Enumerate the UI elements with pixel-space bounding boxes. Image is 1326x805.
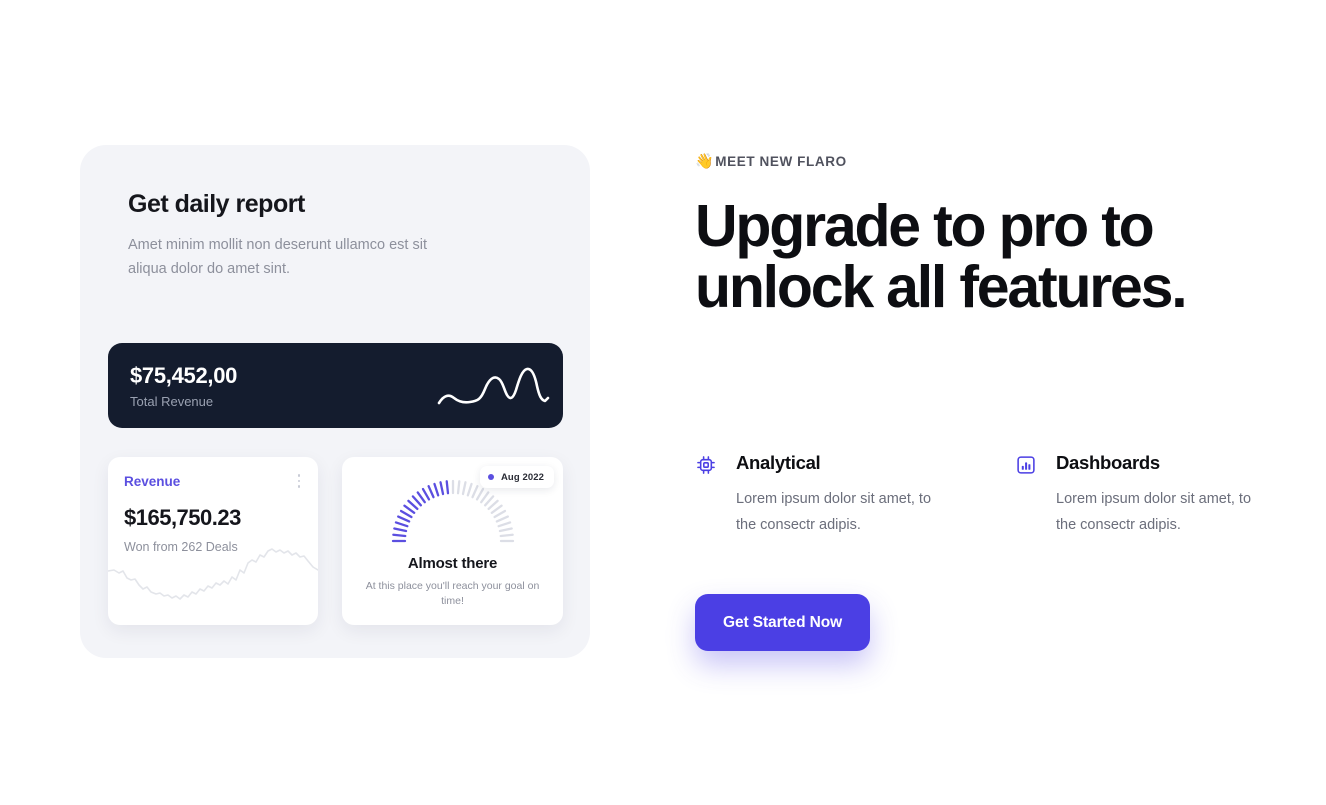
feature-title: Dashboards [1056,452,1275,474]
eyebrow-label: MEET NEW FLARO [715,154,846,169]
more-vertical-icon[interactable] [292,473,306,489]
hero-copy: 👋 MEET NEW FLARO Upgrade to pro to unloc… [695,150,1275,318]
cpu-chip-icon [695,454,717,476]
eyebrow: 👋 MEET NEW FLARO [695,150,1275,172]
cta-container: Get Started Now [695,594,870,651]
goal-card: Aug 2022 Almost there At this place you'… [342,457,563,625]
feature-description: Lorem ipsum dolor sit amet, to the conse… [1056,486,1271,538]
showcase-card: Get daily report Amet minim mollit non d… [80,145,590,658]
line-sparkline-icon [436,357,551,415]
showcase-subtitle: Amet minim mollit non deserunt ullamco e… [128,233,438,281]
bar-chart-square-icon [1015,454,1037,476]
revenue-card-heading: Revenue [124,474,180,489]
get-started-button[interactable]: Get Started Now [695,594,870,651]
total-revenue-label: Total Revenue [130,394,213,409]
line-chart-icon [108,537,318,617]
badge-dot-icon [488,474,494,480]
feature-title: Analytical [736,452,1015,474]
feature-item-analytical: Analytical Lorem ipsum dolor sit amet, t… [695,452,1015,538]
landing-hero: Get daily report Amet minim mollit non d… [0,0,1326,805]
feature-list: Analytical Lorem ipsum dolor sit amet, t… [695,452,1275,538]
revenue-card: Revenue $165,750.23 Won from 262 Deals [108,457,318,625]
goal-card-subtitle: At this place you'll reach your goal on … [360,579,545,609]
waving-hand-icon: 👋 [695,154,714,169]
page-title: Upgrade to pro to unlock all features. [695,196,1275,318]
revenue-card-amount: $165,750.23 [124,505,241,531]
showcase-title: Get daily report [128,190,305,219]
total-revenue-panel: $75,452,00 Total Revenue [108,343,563,428]
month-badge: Aug 2022 [480,466,554,488]
goal-card-title: Almost there [342,555,563,572]
month-badge-label: Aug 2022 [501,472,544,483]
feature-description: Lorem ipsum dolor sit amet, to the conse… [736,486,951,538]
total-revenue-amount: $75,452,00 [130,363,237,389]
feature-item-dashboards: Dashboards Lorem ipsum dolor sit amet, t… [1015,452,1275,538]
